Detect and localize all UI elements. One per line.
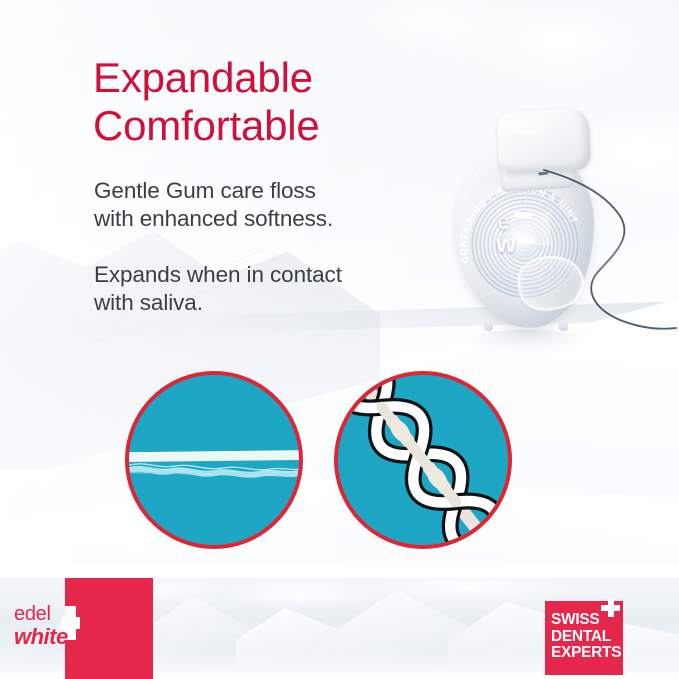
headline: Expandable Comfortable	[93, 54, 493, 150]
badge-line-2: DENTAL	[551, 629, 621, 646]
product-floss-dispenser: CONTAINING CINNAMON & MINT e w	[452, 108, 679, 343]
product-reflection	[464, 330, 590, 354]
product-label-text: CONTAINING CINNAMON & MINT	[458, 182, 581, 264]
product-foot-left	[484, 320, 493, 331]
advertisement-canvas: Expandable Comfortable Gentle Gum care f…	[0, 0, 679, 679]
product-ew-logo: e w	[496, 214, 516, 254]
brand-name-line-1: edel	[14, 604, 70, 624]
logo-letter-w: w	[496, 232, 516, 254]
badge-line-3: EXPERTS	[551, 645, 621, 662]
brand-name-line-2: white	[14, 626, 70, 648]
edel-white-logo: edel white	[14, 604, 70, 648]
feature-circle-expanded-floss	[334, 371, 512, 549]
product-foot-right	[559, 320, 568, 331]
body-paragraph-1: Gentle Gum care floss with enhanced soft…	[94, 177, 444, 233]
feature-circle-flat-floss	[125, 371, 303, 549]
body-paragraph-2: Expands when in contact with saliva.	[94, 261, 444, 317]
badge-line-1: SWISS	[551, 612, 621, 629]
swiss-dental-experts-text: SWISS DENTAL EXPERTS	[551, 612, 621, 662]
logo-bar-top	[514, 212, 532, 217]
